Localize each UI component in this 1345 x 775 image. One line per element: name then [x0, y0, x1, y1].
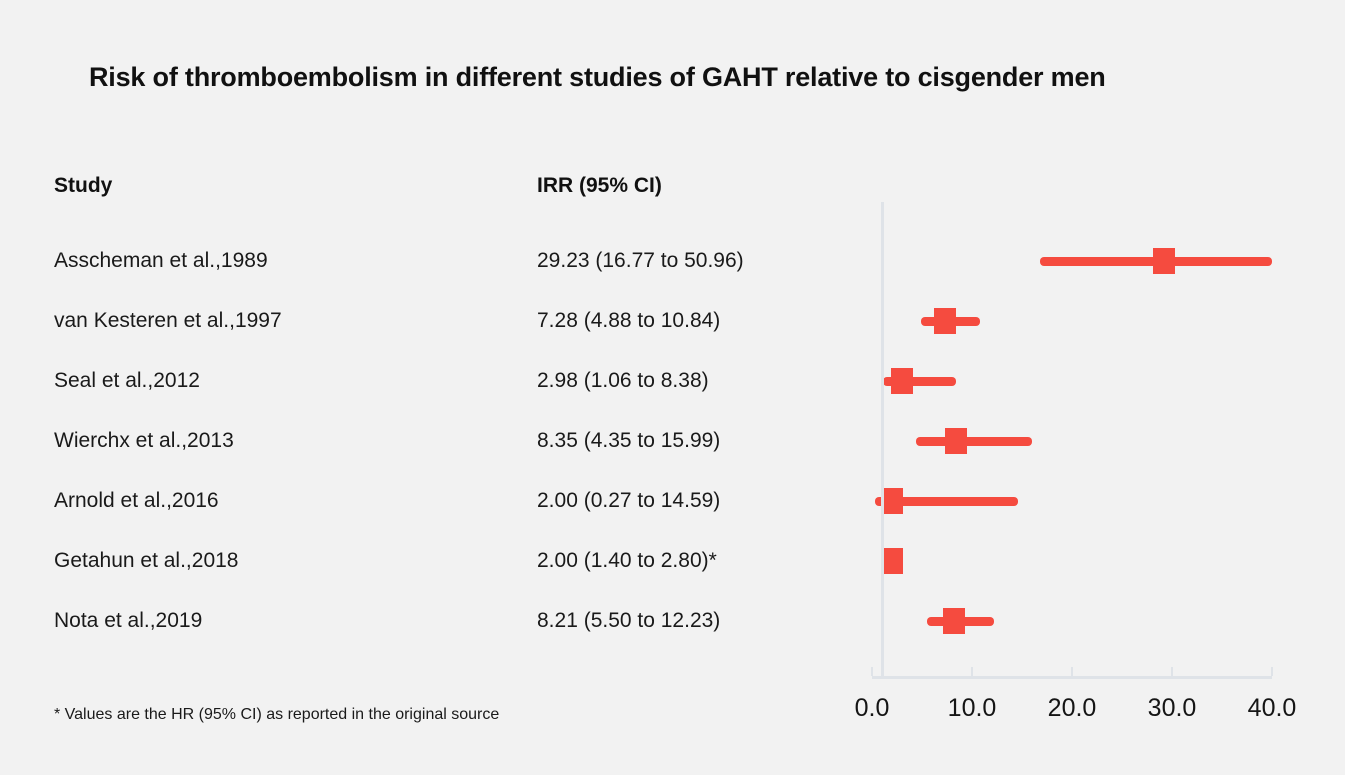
- effect-estimate: 8.21 (5.50 to 12.23): [537, 604, 720, 638]
- table-row: Nota et al.,20198.21 (5.50 to 12.23): [0, 604, 1345, 638]
- table-row: Getahun et al.,20182.00 (1.40 to 2.80)*: [0, 544, 1345, 578]
- forest-plot-figure: Risk of thromboembolism in different stu…: [0, 0, 1345, 775]
- study-name: Getahun et al.,2018: [54, 544, 238, 578]
- footnote: * Values are the HR (95% CI) as reported…: [54, 706, 499, 724]
- study-name: Nota et al.,2019: [54, 604, 202, 638]
- table-row: Seal et al.,20122.98 (1.06 to 8.38): [0, 364, 1345, 398]
- study-table: Asscheman et al.,198929.23 (16.77 to 50.…: [0, 0, 1345, 775]
- study-name: Wierchx et al.,2013: [54, 424, 234, 458]
- effect-estimate: 2.00 (1.40 to 2.80)*: [537, 544, 717, 578]
- effect-estimate: 29.23 (16.77 to 50.96): [537, 244, 744, 278]
- effect-estimate: 2.00 (0.27 to 14.59): [537, 484, 720, 518]
- study-name: van Kesteren et al.,1997: [54, 304, 282, 338]
- effect-estimate: 8.35 (4.35 to 15.99): [537, 424, 720, 458]
- table-row: Wierchx et al.,20138.35 (4.35 to 15.99): [0, 424, 1345, 458]
- effect-estimate: 7.28 (4.88 to 10.84): [537, 304, 720, 338]
- table-row: Asscheman et al.,198929.23 (16.77 to 50.…: [0, 244, 1345, 278]
- study-name: Seal et al.,2012: [54, 364, 200, 398]
- effect-estimate: 2.98 (1.06 to 8.38): [537, 364, 709, 398]
- study-name: Arnold et al.,2016: [54, 484, 219, 518]
- study-name: Asscheman et al.,1989: [54, 244, 268, 278]
- table-row: van Kesteren et al.,19977.28 (4.88 to 10…: [0, 304, 1345, 338]
- table-row: Arnold et al.,20162.00 (0.27 to 14.59): [0, 484, 1345, 518]
